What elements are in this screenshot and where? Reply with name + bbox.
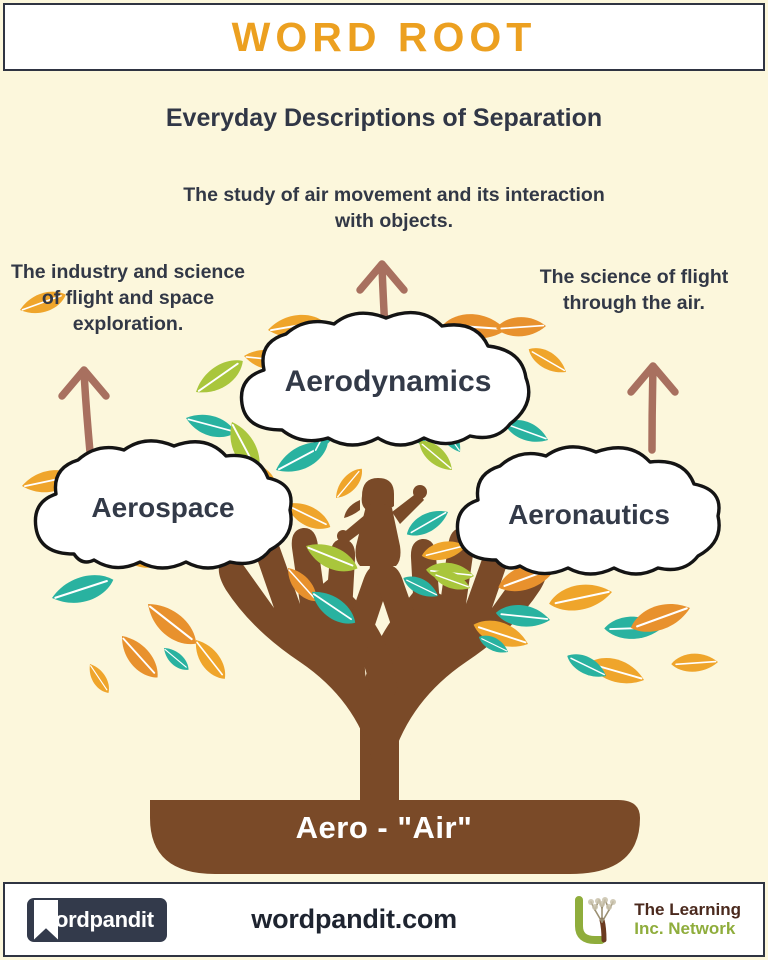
root-label: Aero - "Air" bbox=[0, 810, 768, 846]
wordpandit-logo[interactable]: ordpandit bbox=[27, 898, 167, 942]
subtitle: Everyday Descriptions of Separation bbox=[0, 104, 768, 133]
cloud-aeronautics[interactable]: Aeronautics bbox=[444, 448, 734, 582]
site-url[interactable]: wordpandit.com bbox=[137, 904, 571, 935]
wordpandit-logo-text: ordpandit bbox=[55, 907, 154, 933]
cloud-aerodynamics[interactable]: Aerodynamics bbox=[224, 312, 552, 452]
infographic-poster: WORD ROOT Everyday Descriptions of Separ… bbox=[0, 0, 768, 960]
description-aerodynamics: The study of air movement and its intera… bbox=[178, 183, 610, 235]
learning-network-wordmark: The Learning Inc. Network bbox=[634, 901, 741, 937]
partner-line-1: The Learning bbox=[634, 901, 741, 919]
footer-bar: ordpandit wordpandit.com bbox=[3, 882, 765, 957]
header-bar: WORD ROOT bbox=[3, 3, 765, 71]
description-aeronautics: The science of flight through the air. bbox=[506, 265, 762, 317]
page-title: WORD ROOT bbox=[232, 14, 537, 61]
learning-network-logo[interactable]: The Learning Inc. Network bbox=[571, 894, 741, 946]
arrow-up-icon-right bbox=[631, 366, 675, 450]
tree-icon bbox=[571, 894, 627, 946]
partner-line-2: Inc. Network bbox=[634, 920, 741, 938]
cloud-aerospace[interactable]: Aerospace bbox=[24, 440, 302, 576]
description-aerospace: The industry and science of flight and s… bbox=[8, 260, 248, 338]
bookmark-icon bbox=[34, 900, 58, 940]
